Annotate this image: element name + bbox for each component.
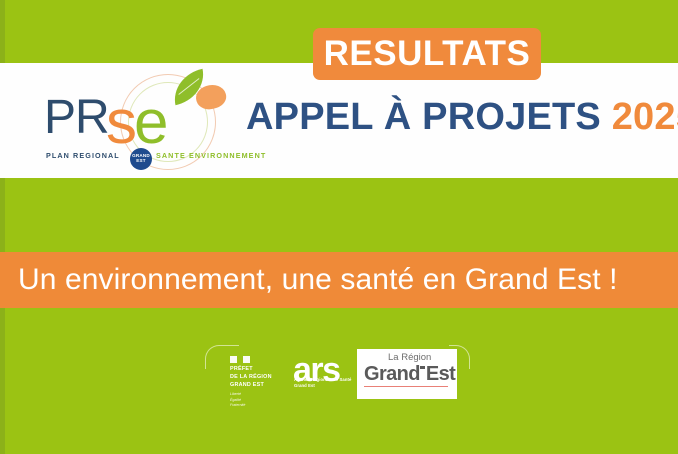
badge-line-2: EST [130, 158, 152, 163]
region-main-2: Est [426, 363, 455, 385]
prefet-line-2: DE LA RÉGION [230, 374, 278, 382]
region-top-text: La Région [388, 353, 450, 363]
prefet-text: PRÉFET DE LA RÉGION GRAND EST [230, 366, 278, 389]
prefet-line-1: PRÉFET [230, 366, 278, 374]
prefet-devise: Liberté Égalité Fraternité [230, 392, 278, 408]
page-title-main: APPEL À PROJETS [246, 96, 601, 138]
poster-root: PR se PLAN REGIONAL GRAND EST SANTE ENVI… [0, 0, 678, 454]
prse-subtitle-right: SANTE ENVIRONNEMENT [156, 151, 266, 160]
prse-e-letter: e [134, 88, 165, 157]
grand-est-badge-icon: GRAND EST [130, 148, 152, 170]
prse-logo: PR se PLAN REGIONAL GRAND EST SANTE ENVI… [44, 72, 234, 168]
region-separator-icon [420, 366, 425, 369]
frame-mask-top [239, 342, 449, 349]
logo-la-region-grand-est: La Région GrandEst [357, 349, 457, 399]
resultats-label: RESULTATS [324, 34, 531, 74]
prefet-line-3: GRAND EST [230, 382, 278, 390]
french-flag-icon [230, 356, 250, 363]
region-underline [364, 386, 448, 387]
page-title-year: 2025 [612, 96, 678, 138]
logo-ars-grand-est: ars Agence Régionale de Santé Grand Est [293, 353, 355, 399]
prse-subtitle-left: PLAN REGIONAL [46, 151, 120, 160]
logo-prefet-region-grand-est: PRÉFET DE LA RÉGION GRAND EST Liberté Ég… [230, 356, 278, 398]
prse-baseline: PLAN REGIONAL GRAND EST SANTE ENVIRONNEM… [46, 150, 236, 162]
page-title: APPEL À PROJETS 2025 [246, 98, 678, 136]
slogan-text: Un environnement, une santé en Grand Est… [18, 263, 618, 297]
ars-sub-line-2: Grand Est [294, 383, 351, 389]
devise-line-3: Fraternité [230, 403, 278, 408]
prse-se-text: se [106, 92, 165, 154]
ars-subtitle: Agence Régionale de Santé Grand Est [294, 377, 351, 390]
partner-logos-block: PRÉFET DE LA RÉGION GRAND EST Liberté Ég… [205, 345, 470, 407]
region-main-text: GrandEst [364, 364, 450, 385]
prse-s-letter: s [106, 88, 134, 157]
slogan-banner: Un environnement, une santé en Grand Est… [0, 252, 678, 308]
region-main-1: Grand [364, 363, 420, 385]
resultats-tag: RESULTATS [313, 28, 541, 80]
prse-pr-text: PR [44, 94, 109, 142]
